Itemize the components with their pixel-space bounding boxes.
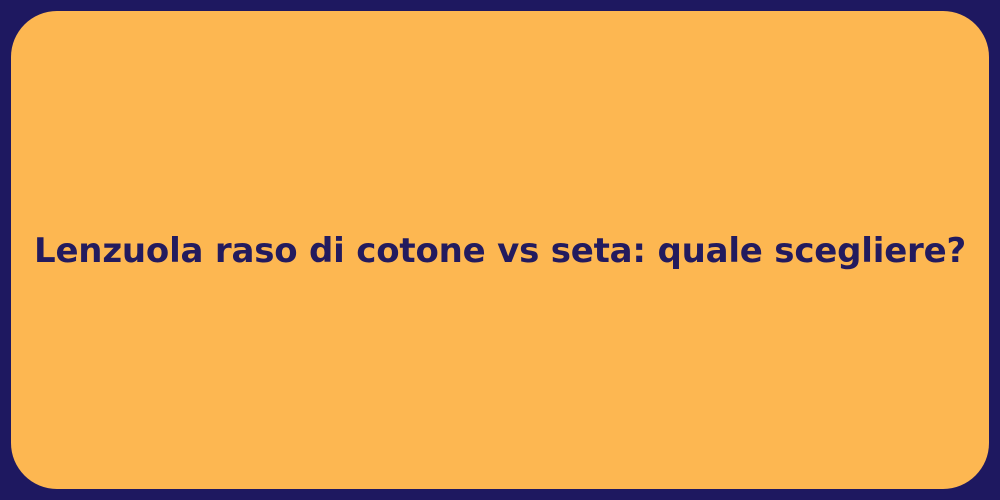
page-title: Lenzuola raso di cotone vs seta: quale s… <box>34 231 966 272</box>
title-card: Lenzuola raso di cotone vs seta: quale s… <box>11 11 989 489</box>
page-background: Lenzuola raso di cotone vs seta: quale s… <box>0 0 1000 500</box>
title-container: Lenzuola raso di cotone vs seta: quale s… <box>11 11 989 489</box>
